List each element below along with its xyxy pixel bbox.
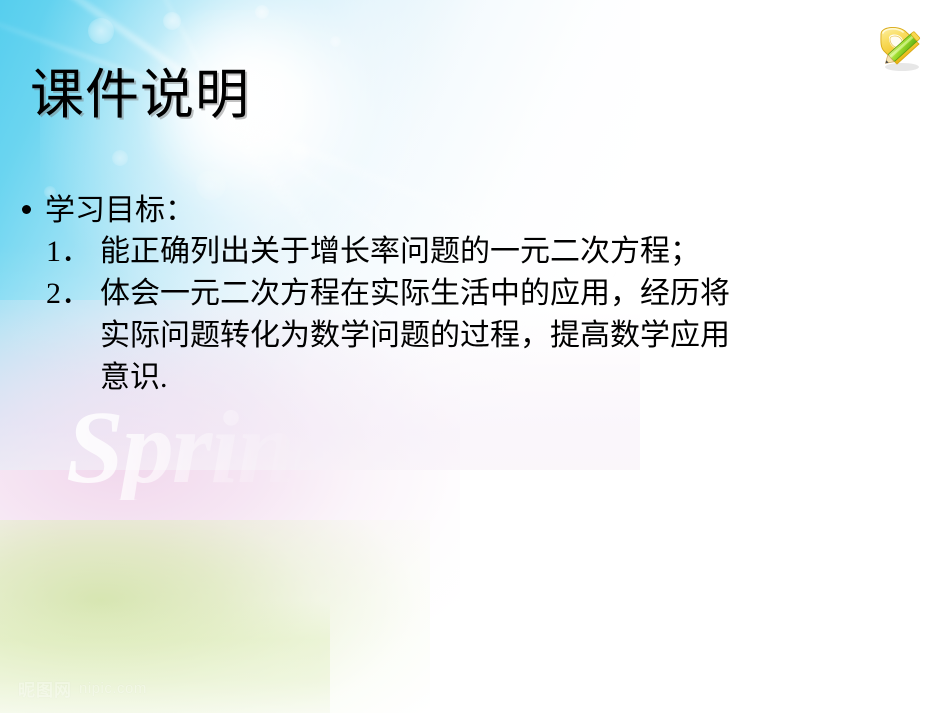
learning-goals-label: 学习目标：: [45, 190, 195, 231]
bullet-dot-icon: [22, 205, 31, 214]
list-item-text: 能正确列出关于增长率问题的一元二次方程；: [100, 231, 922, 273]
list-item-line: 体会一元二次方程在实际生活中的应用，经历将: [100, 273, 922, 315]
slide-body: 学习目标： 1． 能正确列出关于增长率问题的一元二次方程； 2． 体会一元二次方…: [22, 190, 922, 399]
lens-flare-bokeh: [163, 12, 181, 30]
list-item-line: 能正确列出关于增长率问题的一元二次方程；: [100, 231, 922, 273]
list-item-text: 体会一元二次方程在实际生活中的应用，经历将 实际问题转化为数学问题的过程，提高数…: [100, 273, 922, 399]
list-item: 2． 体会一元二次方程在实际生活中的应用，经历将 实际问题转化为数学问题的过程，…: [46, 273, 922, 399]
objectives-list: 1． 能正确列出关于增长率问题的一元二次方程； 2． 体会一元二次方程在实际生活…: [22, 231, 922, 399]
lens-flare-bokeh: [88, 18, 114, 44]
lens-flare-bokeh: [112, 150, 128, 166]
learning-goals-bullet: 学习目标：: [22, 190, 922, 231]
list-item-marker: 2．: [46, 273, 100, 315]
presentation-slide: Spring: [0, 0, 950, 713]
protractor-pencil-icon[interactable]: [872, 22, 928, 74]
page-title: 课件说明: [30, 66, 250, 124]
lens-flare-bokeh: [288, 140, 310, 162]
grass-band-layer: [0, 600, 330, 713]
lens-flare-bokeh: [255, 5, 269, 19]
list-item-line: 实际问题转化为数学问题的过程，提高数学应用: [100, 315, 922, 357]
lens-flare-bokeh: [330, 36, 341, 47]
list-item-line: 意识.: [100, 357, 922, 399]
list-item-marker: 1．: [46, 231, 100, 273]
list-item: 1． 能正确列出关于增长率问题的一元二次方程；: [46, 231, 922, 273]
lens-flare-bokeh: [247, 108, 287, 148]
